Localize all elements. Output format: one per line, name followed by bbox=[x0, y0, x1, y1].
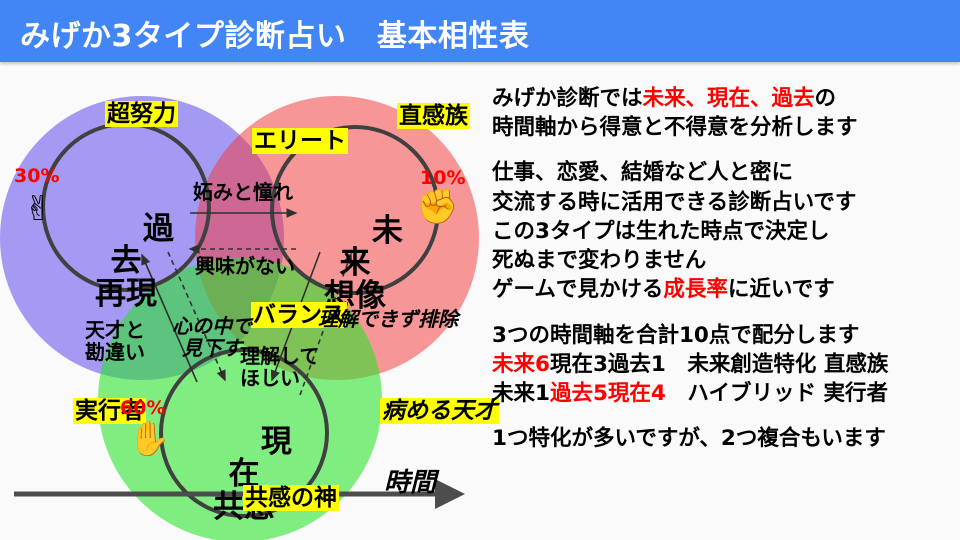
percent-present: 60% bbox=[120, 398, 165, 419]
relation-exclude-no-understanding: 理解できず排除 bbox=[318, 308, 458, 330]
type-label-present: 共感の神 bbox=[195, 460, 339, 537]
type-label-past: 超努力 bbox=[57, 76, 178, 153]
relation-want-understanding: 理解して ほしい bbox=[240, 345, 319, 390]
raised-fist-emoji: ✊ bbox=[416, 188, 458, 226]
title-bar: みげか3タイプ診断占い 基本相性表 bbox=[0, 0, 960, 62]
raised-hand-emoji: ✋ bbox=[128, 420, 170, 458]
relation-no-interest: 興味がない bbox=[195, 255, 295, 277]
relation-genius-misunderstanding: 天才と 勘違い bbox=[85, 319, 145, 364]
description-paragraph-4: 1つ特化が多いですが、2つ複合もいます bbox=[492, 424, 960, 453]
description-paragraph-3: 3つの時間軸を合計10点で配分します 未来6現在3過去1 未来創造特化 直感族 … bbox=[492, 321, 960, 409]
relation-envy-admire: 妬みと憧れ bbox=[193, 181, 293, 203]
victory-hand-emoji: ✌ bbox=[24, 190, 53, 228]
description-panel: みげか診断では未来、現在、過去の 時間軸から得意と不得意を分析します 仕事、恋愛… bbox=[492, 84, 960, 470]
type-label-future: 直感族 bbox=[349, 78, 470, 155]
description-paragraph-2: 仕事、恋愛、結婚など人と密に 交流する時に活用できる診断占いです この3タイプは… bbox=[492, 158, 960, 304]
slide-canvas: みげか3タイプ診断占い 基本相性表 bbox=[0, 0, 960, 540]
overlap-label-sick-genius: 病める天才 bbox=[332, 373, 499, 450]
percent-past: 30% bbox=[14, 166, 59, 187]
overlap-label-elite: エリート bbox=[204, 103, 348, 180]
time-axis-label: 時間 bbox=[384, 462, 436, 499]
page-title: みげか3タイプ診断占い 基本相性表 bbox=[20, 11, 529, 55]
description-paragraph-1: みげか診断では未来、現在、過去の 時間軸から得意と不得意を分析します bbox=[492, 84, 960, 142]
